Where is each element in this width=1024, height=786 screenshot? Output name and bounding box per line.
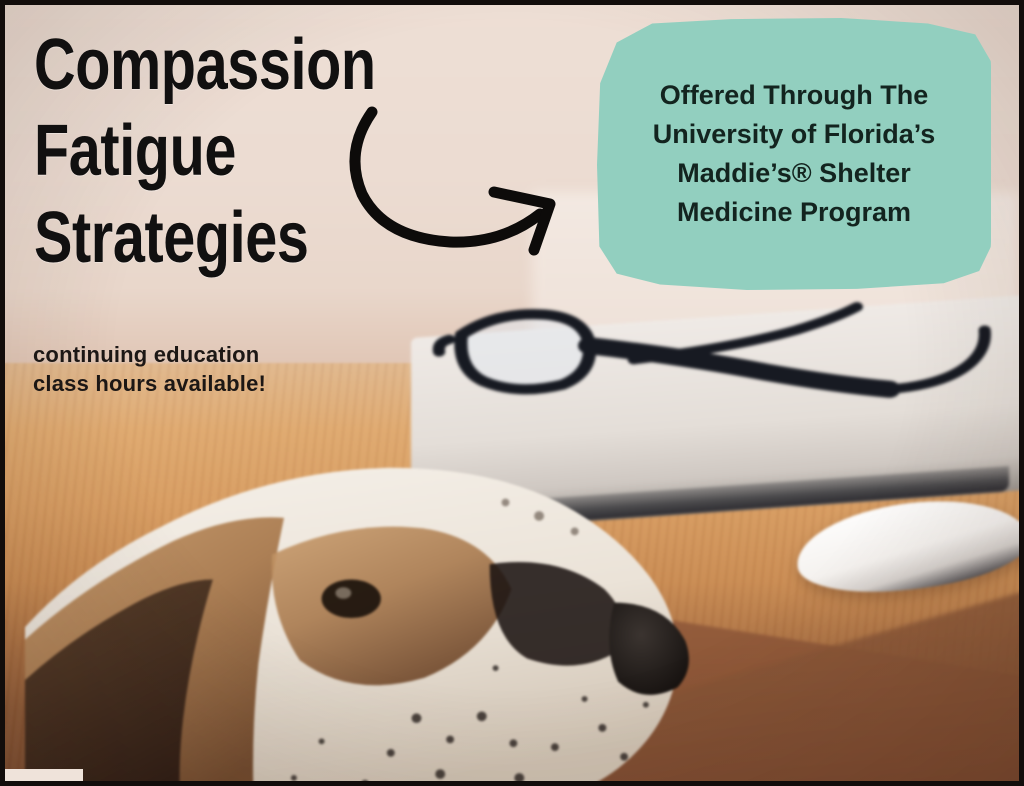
headline-line-3: Strategies <box>34 195 370 281</box>
page-title: Compassion Fatigue Strategies <box>34 22 370 281</box>
badge-line-1: Offered Through The <box>660 77 928 114</box>
curved-arrow-icon <box>338 98 578 258</box>
badge-text: Offered Through The University of Florid… <box>597 18 991 290</box>
subheading-line-1: continuing education <box>33 340 266 369</box>
badge-line-4: Medicine Program <box>677 194 911 231</box>
subheading-line-2: class hours available! <box>33 369 266 398</box>
headline-line-1: Compassion <box>34 22 370 108</box>
badge-line-2: University of Florida’s <box>653 116 936 153</box>
headline-line-2: Fatigue <box>34 108 370 194</box>
corner-watermark-block <box>5 769 83 783</box>
poster: Compassion Fatigue Strategies continuing… <box>0 0 1024 786</box>
subheading: continuing education class hours availab… <box>33 340 266 398</box>
badge-line-3: Maddie’s® Shelter <box>677 155 910 192</box>
dog-head <box>25 410 816 783</box>
status-badge: Offered Through The University of Florid… <box>597 18 991 290</box>
